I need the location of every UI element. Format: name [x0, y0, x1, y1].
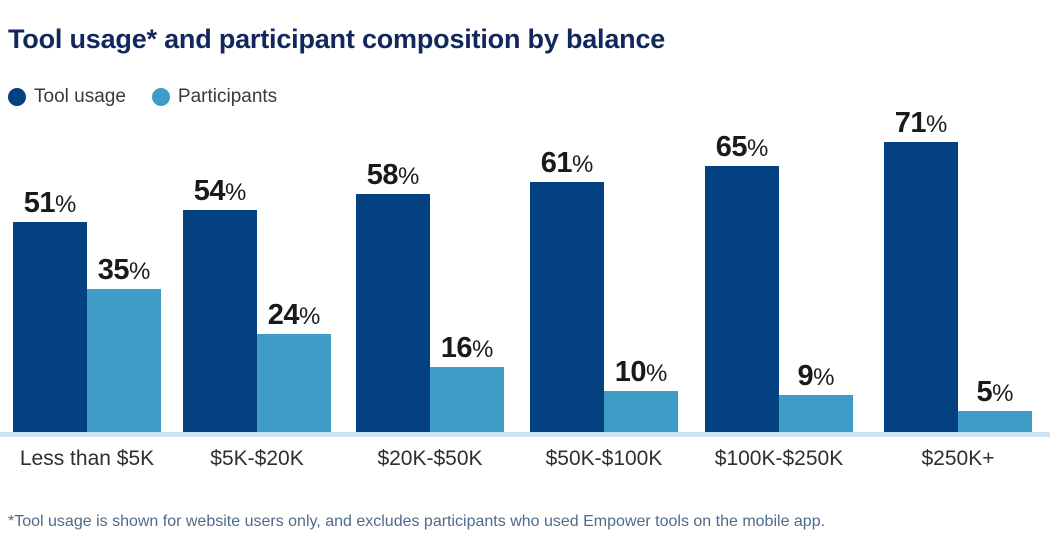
bar-value-suffix: % [398, 163, 419, 190]
plot-area: 51% 35% 54% 24% [0, 110, 1050, 437]
bar-value-label: 51% [24, 189, 77, 218]
x-axis-tick-label: $250K+ [884, 447, 1032, 471]
legend-item-tool-usage[interactable]: Tool usage [8, 86, 126, 108]
bar-value-suffix: % [225, 179, 246, 206]
chart-title: Tool usage* and participant composition … [8, 24, 665, 55]
bar-value-label: 61% [541, 149, 594, 178]
bar-value-suffix: % [813, 364, 834, 391]
bar-group: 61% 10% [530, 110, 678, 432]
x-axis-tick-label: Less than $5K [13, 447, 161, 471]
bar-value-suffix: % [299, 303, 320, 330]
bar-group: 71% 5% [884, 110, 1032, 432]
legend-swatch-circle-icon [152, 88, 170, 106]
bar-participants[interactable]: 16% [430, 367, 504, 432]
bar-value-label: 10% [615, 358, 668, 387]
bar-tool-usage[interactable]: 58% [356, 194, 430, 432]
chart-legend: Tool usage Participants [8, 85, 277, 109]
bar-value-label: 9% [798, 362, 835, 391]
bar-value-suffix: % [572, 151, 593, 178]
bar-value-suffix: % [472, 336, 493, 363]
bar-value-label: 35% [98, 256, 151, 285]
bar-participants[interactable]: 10% [604, 391, 678, 432]
bar-value-suffix: % [926, 111, 947, 138]
legend-swatch-circle-icon [8, 88, 26, 106]
bar-value-label: 71% [895, 109, 948, 138]
bar-value-label: 5% [977, 378, 1014, 407]
bar-participants[interactable]: 5% [958, 411, 1032, 432]
bar-value-label: 58% [367, 161, 420, 190]
x-axis-tick-label: $50K-$100K [530, 447, 678, 471]
bar-participants[interactable]: 9% [779, 395, 853, 432]
x-axis-tick-label: $20K-$50K [356, 447, 504, 471]
x-axis-tick-label: $5K-$20K [183, 447, 331, 471]
bar-value-suffix: % [55, 191, 76, 218]
bar-value-number: 71 [895, 107, 926, 139]
bar-tool-usage[interactable]: 71% [884, 142, 958, 432]
bar-group: 54% 24% [183, 110, 331, 432]
bar-group: 51% 35% [13, 110, 161, 432]
x-axis-line [0, 432, 1050, 437]
bar-group: 58% 16% [356, 110, 504, 432]
bar-participants[interactable]: 35% [87, 289, 161, 432]
bar-tool-usage[interactable]: 61% [530, 182, 604, 432]
legend-label-tool-usage: Tool usage [34, 86, 126, 108]
bar-value-suffix: % [646, 360, 667, 387]
bar-value-number: 10 [615, 356, 646, 388]
bar-value-label: 65% [716, 133, 769, 162]
bar-value-number: 5 [977, 376, 993, 408]
bar-tool-usage[interactable]: 65% [705, 166, 779, 432]
bar-value-label: 54% [194, 177, 247, 206]
chart-footnote: *Tool usage is shown for website users o… [8, 513, 825, 531]
x-axis-labels: Less than $5K $5K-$20K $20K-$50K $50K-$1… [0, 447, 1050, 477]
bar-value-number: 61 [541, 147, 572, 179]
bar-value-number: 51 [24, 187, 55, 219]
bar-value-number: 9 [798, 360, 814, 392]
bar-value-number: 58 [367, 159, 398, 191]
legend-item-participants[interactable]: Participants [152, 86, 277, 108]
bar-value-number: 35 [98, 254, 129, 286]
bar-value-number: 65 [716, 131, 747, 163]
bar-value-suffix: % [747, 135, 768, 162]
bar-value-number: 16 [441, 332, 472, 364]
bar-value-number: 54 [194, 175, 225, 207]
bar-value-label: 24% [268, 301, 321, 330]
legend-label-participants: Participants [178, 86, 277, 108]
bar-value-label: 16% [441, 334, 494, 363]
bar-tool-usage[interactable]: 51% [13, 222, 87, 432]
bar-value-suffix: % [992, 380, 1013, 407]
bar-value-suffix: % [129, 258, 150, 285]
bar-value-number: 24 [268, 299, 299, 331]
bar-participants[interactable]: 24% [257, 334, 331, 432]
bar-group: 65% 9% [705, 110, 853, 432]
bar-tool-usage[interactable]: 54% [183, 210, 257, 432]
x-axis-tick-label: $100K-$250K [705, 447, 853, 471]
bar-chart: Tool usage* and participant composition … [0, 0, 1050, 557]
